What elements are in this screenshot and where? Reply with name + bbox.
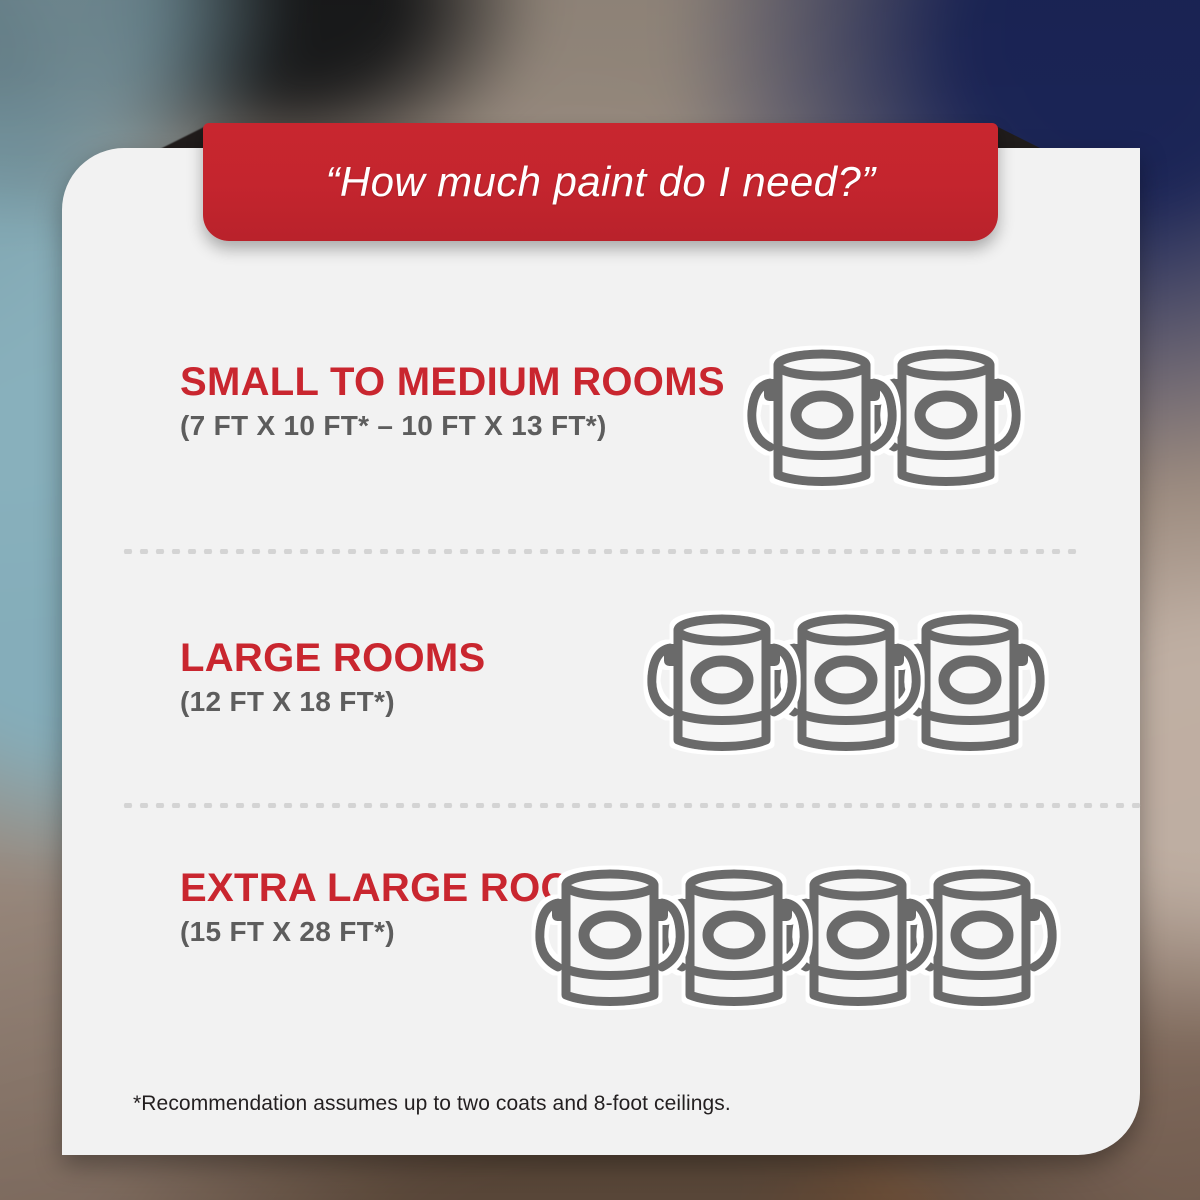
paint-can-icon xyxy=(540,874,680,1002)
row-large-dimensions: (12 FT X 18 FT*) xyxy=(180,686,486,718)
paint-can-icon xyxy=(912,874,1052,1002)
row-small-medium-heading: SMALL TO MEDIUM ROOMS xyxy=(180,360,725,405)
divider-1 xyxy=(120,549,1080,554)
footnote: *Recommendation assumes up to two coats … xyxy=(133,1092,731,1116)
paint-can-group-3 xyxy=(642,598,1062,778)
paint-can-icon xyxy=(664,874,804,1002)
paint-can-icon xyxy=(652,619,792,747)
info-card: SMALL TO MEDIUM ROOMS (7 FT X 10 FT* – 1… xyxy=(62,148,1140,1155)
page-title: “How much paint do I need?” xyxy=(325,158,875,206)
row-small-medium-text: SMALL TO MEDIUM ROOMS (7 FT X 10 FT* – 1… xyxy=(180,360,725,442)
paint-can-group-4 xyxy=(530,853,1078,1033)
paint-can-group-2 xyxy=(742,333,1042,513)
infographic-stage: SMALL TO MEDIUM ROOMS (7 FT X 10 FT* – 1… xyxy=(0,0,1200,1200)
rows-container: SMALL TO MEDIUM ROOMS (7 FT X 10 FT* – 1… xyxy=(62,148,1140,1155)
paint-can-icon xyxy=(788,874,928,1002)
paint-can-icon xyxy=(876,354,1016,482)
row-large-heading: LARGE ROOMS xyxy=(180,636,486,681)
divider-2 xyxy=(120,803,1142,808)
paint-can-icon xyxy=(776,619,916,747)
paint-can-icon xyxy=(752,354,892,482)
row-large-text: LARGE ROOMS (12 FT X 18 FT*) xyxy=(180,636,486,718)
paint-can-icon xyxy=(900,619,1040,747)
header-banner: “How much paint do I need?” xyxy=(203,123,998,241)
row-small-medium-dimensions: (7 FT X 10 FT* – 10 FT X 13 FT*) xyxy=(180,410,725,442)
